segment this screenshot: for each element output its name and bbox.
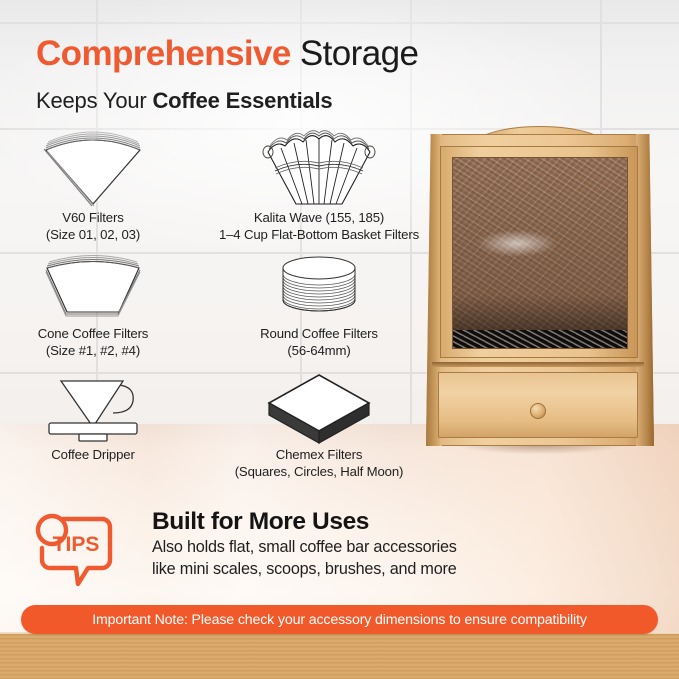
feature-label: Round Coffee Filters (56-64mm) xyxy=(188,326,450,359)
feature-item-kalita-wave: Kalita Wave (155, 185) 1–4 Cup Flat-Bott… xyxy=(188,128,450,243)
tips-line-2: like mini scales, scoops, brushes, and m… xyxy=(152,558,457,580)
chemex-square-filter-icon xyxy=(257,369,381,447)
feature-label-line2: (Squares, Circles, Half Moon) xyxy=(188,464,450,481)
glass-highlight xyxy=(477,230,557,257)
tips-section: TIPS Built for More Uses Also holds flat… xyxy=(30,508,630,594)
feature-label: Coffee Dripper xyxy=(0,447,204,464)
feature-label: Kalita Wave (155, 185) 1–4 Cup Flat-Bott… xyxy=(188,210,450,243)
feature-label-line2: 1–4 Cup Flat-Bottom Basket Filters xyxy=(188,227,450,244)
tips-text-block: Built for More Uses Also holds flat, sma… xyxy=(152,508,457,580)
page-subtitle-bold: Coffee Essentials xyxy=(152,88,332,113)
feature-label-line1: Chemex Filters xyxy=(276,447,363,462)
product-photo xyxy=(418,110,658,455)
storage-drawer xyxy=(438,372,638,438)
feature-grid: V60 Filters (Size 01, 02, 03) xyxy=(0,128,432,487)
glass-bottom-shadow-band xyxy=(453,330,627,348)
drawer-knob xyxy=(530,403,546,419)
feature-row: Coffee Dripper Chemex Filters (Squar xyxy=(0,369,432,487)
important-note-banner: Important Note: Please check your access… xyxy=(21,605,658,634)
feature-label: V60 Filters (Size 01, 02, 03) xyxy=(0,210,204,243)
feature-label: Chemex Filters (Squares, Circles, Half M… xyxy=(188,447,450,480)
feature-label-line1: Cone Coffee Filters xyxy=(38,326,149,341)
tips-title: Built for More Uses xyxy=(152,508,457,536)
feature-row: V60 Filters (Size 01, 02, 03) xyxy=(0,128,432,254)
coffee-dripper-icon xyxy=(31,369,155,447)
feature-label-line2: (56-64mm) xyxy=(188,343,450,360)
v60-cone-filter-stack-icon xyxy=(28,128,158,210)
cone-coffee-filter-stack-icon xyxy=(31,254,155,326)
feature-item-round-filters: Round Coffee Filters (56-64mm) xyxy=(188,254,450,359)
tips-speech-bubble-icon: TIPS xyxy=(30,510,122,592)
infographic-canvas: Comprehensive Storage Keeps Your Coffee … xyxy=(0,0,679,679)
page-title: Comprehensive Storage xyxy=(36,34,418,74)
kalita-wave-fluted-filter-icon xyxy=(254,128,384,210)
page-subtitle: Keeps Your Coffee Essentials xyxy=(36,87,332,115)
feature-label-line1: Coffee Dripper xyxy=(51,447,134,462)
feature-label: Cone Coffee Filters (Size #1, #2, #4) xyxy=(0,326,204,359)
textured-glass-panel xyxy=(452,157,628,349)
page-title-accent: Comprehensive xyxy=(36,34,291,73)
feature-label-line1: Kalita Wave (155, 185) xyxy=(254,210,384,225)
page-title-rest: Storage xyxy=(291,34,419,73)
feature-row: Cone Coffee Filters (Size #1, #2, #4) xyxy=(0,254,432,369)
tips-line-1: Also holds flat, small coffee bar access… xyxy=(152,536,457,558)
feature-item-coffee-dripper: Coffee Dripper xyxy=(0,369,204,464)
feature-label-line1: Round Coffee Filters xyxy=(260,326,378,341)
feature-label-line1: V60 Filters xyxy=(62,210,123,225)
feature-item-v60-filters: V60 Filters (Size 01, 02, 03) xyxy=(0,128,204,243)
box-right-panel xyxy=(636,134,654,446)
feature-item-cone-filters: Cone Coffee Filters (Size #1, #2, #4) xyxy=(0,254,204,359)
round-coffee-filter-stack-icon xyxy=(257,254,381,326)
tips-badge-label: TIPS xyxy=(53,533,100,556)
feature-item-chemex-filters: Chemex Filters (Squares, Circles, Half M… xyxy=(188,369,450,480)
wood-grain-texture xyxy=(0,634,679,679)
feature-label-line2: (Size #1, #2, #4) xyxy=(0,343,204,360)
important-note-text: Important Note: Please check your access… xyxy=(92,612,587,628)
glass-window-frame xyxy=(440,146,638,358)
drawer-gap-shadow xyxy=(432,362,644,367)
feature-label-line2: (Size 01, 02, 03) xyxy=(0,227,204,244)
page-subtitle-plain: Keeps Your xyxy=(36,88,152,113)
